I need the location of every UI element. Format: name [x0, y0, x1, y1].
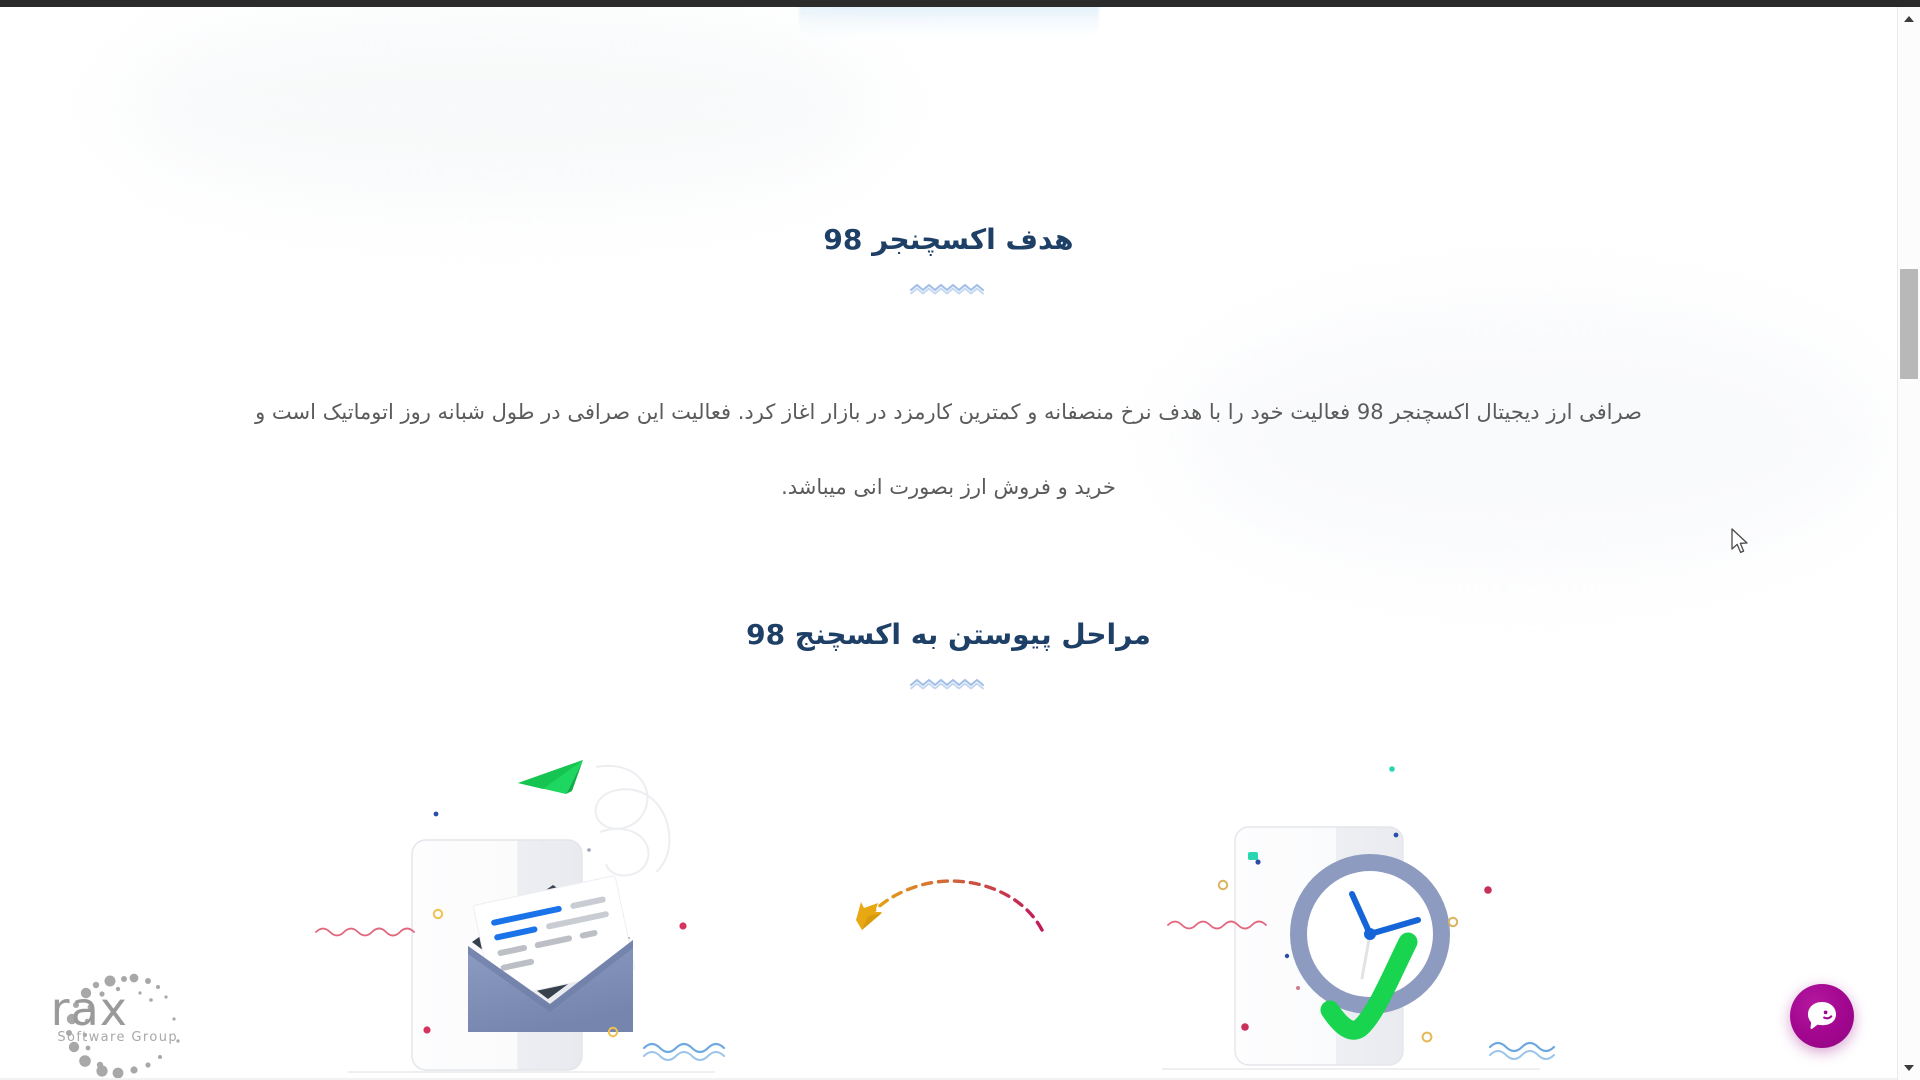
- artarax-tagline: Software Group: [57, 1030, 178, 1045]
- page-title-steps: مراحل پیوستن به اکسچنج 98: [0, 617, 1897, 653]
- scroll-up-arrow-icon[interactable]: [1898, 9, 1920, 29]
- artarax-wordmark: Artarax: [52, 982, 128, 1036]
- email-envelope-illustration: [300, 742, 730, 1080]
- chat-widget-button[interactable]: [1790, 984, 1854, 1048]
- browser-top-bar: [0, 0, 1920, 7]
- page-viewport: هدف اکسچنجر 98 صرافی ارز دیجیتال اکسچنجر…: [0, 7, 1897, 1080]
- page-scrollbar[interactable]: [1897, 7, 1920, 1080]
- clock-check-illustration: [1140, 742, 1570, 1080]
- steps-illustration-row: [0, 742, 1897, 1080]
- section-purpose: هدف اکسچنجر 98: [0, 222, 1897, 296]
- dashed-curved-arrow-icon: [820, 872, 1050, 1002]
- purpose-line-1: صرافی ارز دیجیتال اکسچنجر 98 فعالیت خود …: [228, 375, 1669, 450]
- chat-bubble-icon: [1804, 998, 1840, 1034]
- wave-divider-icon: [909, 280, 989, 296]
- background-tint-left: [120, 17, 880, 197]
- top-header-gradient: [799, 7, 1099, 37]
- scroll-down-arrow-icon[interactable]: [1898, 1058, 1920, 1078]
- section-steps: مراحل پیوستن به اکسچنج 98: [0, 617, 1897, 691]
- purpose-line-2: خرید و فروش ارز بصورت انی میباشد.: [228, 450, 1669, 525]
- artarax-logo: Artarax Software Group: [52, 969, 282, 1080]
- wave-divider-icon: [909, 675, 989, 691]
- page-title-purpose: هدف اکسچنجر 98: [0, 222, 1897, 258]
- purpose-body-text: صرافی ارز دیجیتال اکسچنجر 98 فعالیت خود …: [0, 375, 1897, 525]
- scrollbar-thumb[interactable]: [1900, 269, 1918, 379]
